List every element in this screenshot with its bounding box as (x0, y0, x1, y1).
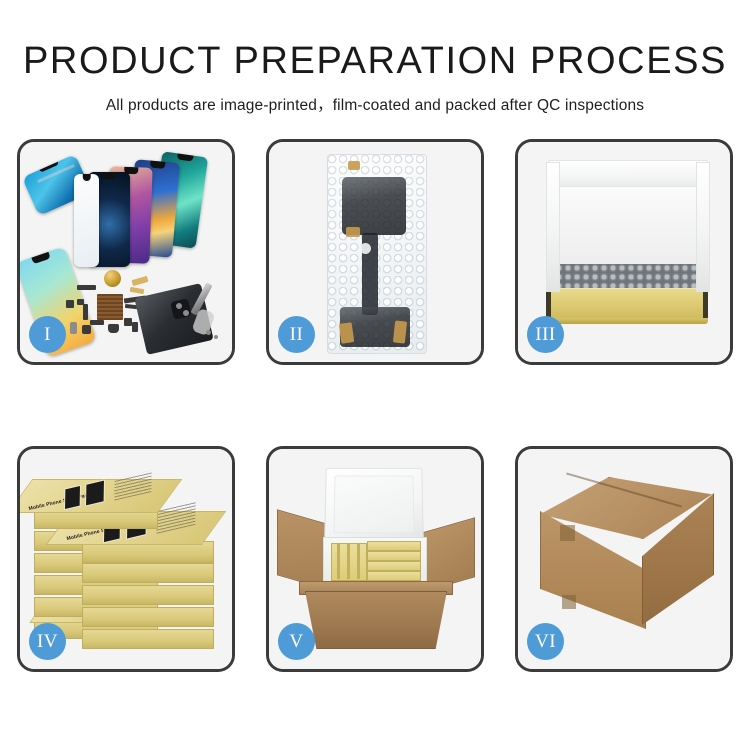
foam-cooler-lid (324, 468, 424, 542)
step-badge-2: II (278, 316, 315, 353)
page-subtitle: All products are image-printed，film-coat… (0, 82, 750, 115)
bubble-wrap-pouch (327, 154, 427, 354)
foam-wall-left (546, 162, 560, 292)
part-speaker (82, 325, 91, 334)
kraft-box-bottom-edge (546, 318, 708, 324)
amber-tape-lower-left (339, 322, 355, 344)
yellow-box-c (367, 551, 421, 561)
process-step-card-1[interactable]: I (17, 139, 235, 365)
yellow-box-seam-b (347, 543, 350, 579)
part-bracket (83, 304, 88, 320)
foam-sheet (553, 186, 703, 268)
process-step-card-6[interactable]: VI (515, 446, 733, 672)
carton-tape-lower (562, 595, 576, 609)
step-badge-5: V (278, 623, 315, 660)
step-badge-1: I (29, 316, 66, 353)
retail-box-screen-back-b (85, 479, 105, 506)
part-sim-tray (132, 322, 138, 332)
part-strip (90, 320, 104, 325)
phone-screen-white (74, 174, 99, 267)
part-small-ic-a (66, 300, 74, 308)
foam-cooler-lid-inset (333, 476, 414, 534)
carton-front-wall (305, 591, 447, 649)
process-step-grid: I II (17, 139, 733, 672)
yellow-box-d (367, 561, 421, 571)
bubble-highlight (360, 243, 371, 254)
part-button (124, 318, 132, 326)
retail-box-screen-back-a (64, 485, 81, 510)
part-logic-board (97, 294, 123, 320)
part-gold-flex-a (131, 276, 148, 286)
part-bar-connector (77, 285, 96, 290)
part-screw-b (214, 335, 218, 339)
part-screw-a (206, 330, 211, 335)
step-badge-3: III (527, 316, 564, 353)
kraft-box-corner-right (703, 288, 708, 320)
part-camera-module (70, 322, 77, 334)
part-taptic-engine (108, 324, 119, 333)
part-gold-coil (104, 270, 121, 287)
yellow-box-seam-c (357, 543, 360, 579)
amber-tape-top (348, 161, 360, 170)
bubble-wrap-layer (555, 264, 699, 290)
process-step-card-3[interactable]: III (515, 139, 733, 365)
foam-wall-right (696, 162, 710, 292)
process-step-card-4[interactable]: Mobile Phone Spare Parts Mobile Phone Sp… (17, 446, 235, 672)
yellow-box-b (367, 541, 421, 551)
page-title: PRODUCT PREPARATION PROCESS (0, 0, 750, 82)
part-gold-flex-b (130, 287, 145, 294)
step-badge-4: IV (29, 623, 66, 660)
kraft-box-front (546, 288, 708, 321)
step-badge-6: VI (527, 623, 564, 660)
yellow-box-seam-a (337, 543, 340, 579)
amber-tape-mid (346, 227, 360, 237)
carton-tape-upper (560, 525, 575, 541)
page-header: PRODUCT PREPARATION PROCESS All products… (0, 0, 750, 115)
process-step-card-5[interactable]: V (266, 446, 484, 672)
amber-tape-lower-right (393, 320, 407, 343)
yellow-box-e (367, 571, 421, 581)
process-step-card-2[interactable]: II (266, 139, 484, 365)
